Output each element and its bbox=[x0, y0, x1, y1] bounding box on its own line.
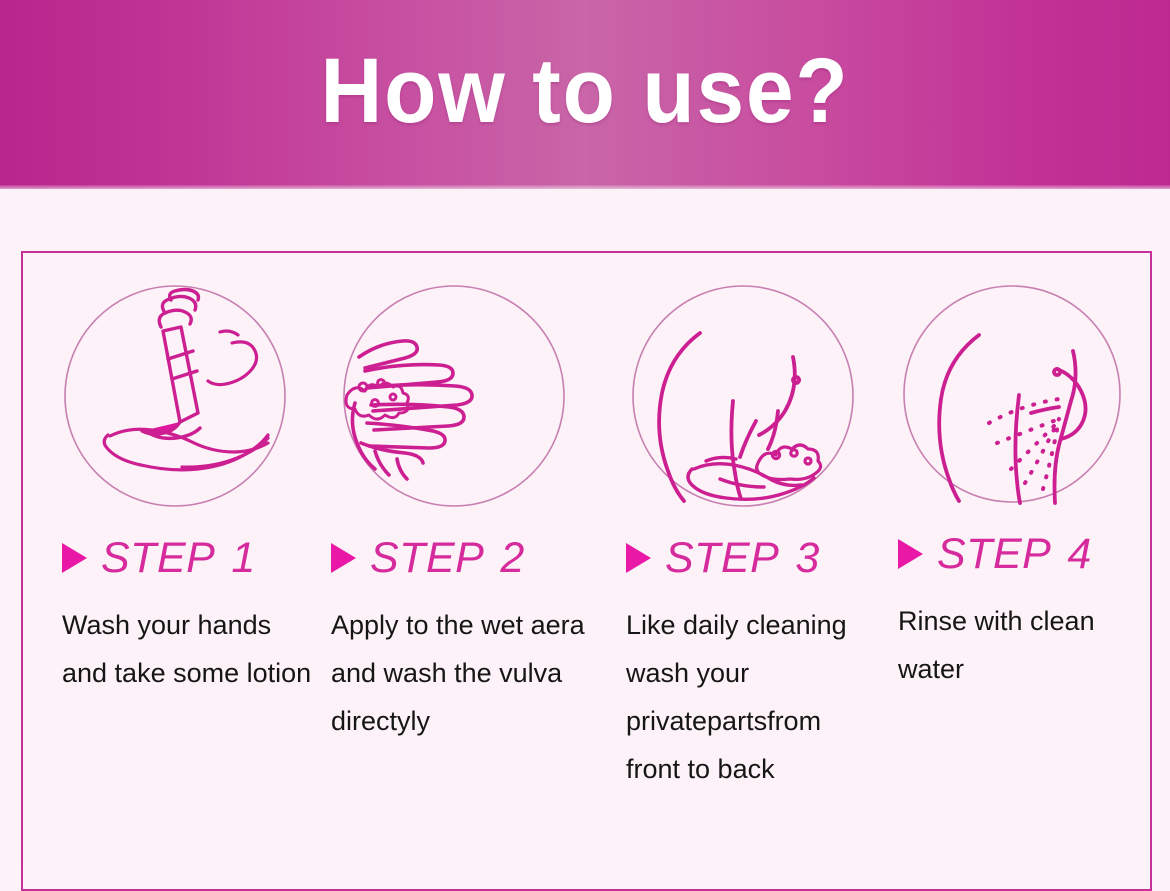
step-1-label: STEP1 bbox=[62, 535, 317, 581]
steps-row: STEP1 Wash your hands and take some loti… bbox=[21, 251, 1152, 858]
torso-washing-with-hand-icon bbox=[630, 283, 856, 509]
step-item-4: STEP4 Rinse with clean water bbox=[898, 251, 1152, 858]
step-4-illustration bbox=[901, 283, 1123, 505]
step-item-2: STEP2 Apply to the wet aera and wash the… bbox=[317, 251, 622, 858]
step-4-label-text: STEP4 bbox=[937, 531, 1092, 577]
step-1-illustration bbox=[62, 283, 288, 509]
hands-lathering-foam-icon bbox=[341, 283, 567, 509]
step-3-label: STEP3 bbox=[626, 535, 898, 581]
step-1-description: Wash your hands and take some lotion bbox=[62, 601, 312, 697]
step-4-number: 4 bbox=[1067, 530, 1091, 578]
step-1-number: 1 bbox=[231, 534, 255, 582]
step-2-number: 2 bbox=[500, 534, 524, 582]
header-banner: How to use? bbox=[0, 0, 1170, 189]
step-2-label: STEP2 bbox=[331, 535, 622, 581]
step-3-illustration bbox=[630, 283, 856, 509]
step-4-label: STEP4 bbox=[898, 531, 1152, 577]
play-triangle-icon bbox=[62, 543, 87, 573]
step-item-3: STEP3 Like daily cleaning wash your priv… bbox=[622, 251, 898, 858]
step-2-description: Apply to the wet aera and wash the vulva… bbox=[331, 601, 609, 745]
step-2-word: STEP bbox=[370, 534, 484, 582]
step-2-label-text: STEP2 bbox=[370, 535, 525, 581]
bottle-dispensing-lotion-into-palm-icon bbox=[62, 283, 288, 509]
step-4-word: STEP bbox=[937, 530, 1051, 578]
step-item-1: STEP1 Wash your hands and take some loti… bbox=[21, 251, 317, 858]
step-4-description: Rinse with clean water bbox=[898, 597, 1133, 693]
step-3-word: STEP bbox=[665, 534, 779, 582]
page-title: How to use? bbox=[41, 41, 1129, 141]
step-1-label-text: STEP1 bbox=[101, 535, 256, 581]
step-1-word: STEP bbox=[101, 534, 215, 582]
step-3-number: 3 bbox=[795, 534, 819, 582]
step-3-description: Like daily cleaning wash your privatepar… bbox=[626, 601, 876, 793]
step-2-illustration bbox=[341, 283, 567, 509]
play-triangle-icon bbox=[626, 543, 651, 573]
how-to-use-infographic: How to use? bbox=[0, 0, 1170, 858]
play-triangle-icon bbox=[898, 539, 923, 569]
step-3-label-text: STEP3 bbox=[665, 535, 820, 581]
showerhead-rinsing-torso-icon bbox=[901, 283, 1123, 505]
play-triangle-icon bbox=[331, 543, 356, 573]
